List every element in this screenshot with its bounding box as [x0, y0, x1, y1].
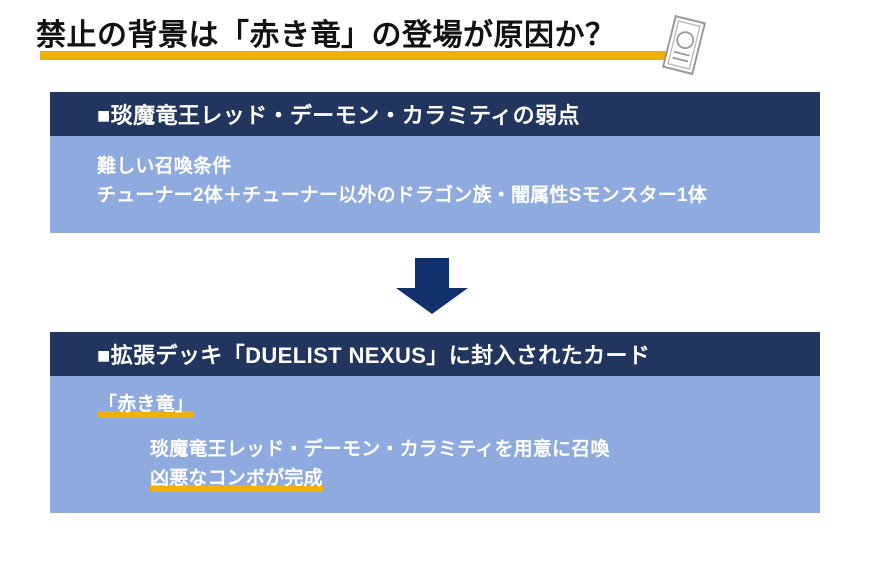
panel-pack-header-text: ■拡張デッキ「DUELIST NEXUS」に封入されたカード — [97, 338, 650, 370]
weakness-line-1: 難しい召喚条件 — [97, 152, 820, 181]
pack-line-1-highlight: 「赤き竜」 — [98, 390, 194, 419]
pack-line-3-highlight: 凶悪なコンボが完成 — [150, 464, 323, 493]
pack-line-1-wrap: 「赤き竜」 — [98, 390, 820, 419]
panel-pack-header: ■拡張デッキ「DUELIST NEXUS」に封入されたカード — [50, 332, 820, 376]
pack-line-3-text: 凶悪なコンボが完成 — [150, 468, 323, 489]
down-arrow-icon — [396, 258, 468, 314]
panel-pack: ■拡張デッキ「DUELIST NEXUS」に封入されたカード 「赤き竜」 琰魔竜… — [50, 332, 820, 513]
panel-weakness: ■琰魔竜王レッド・デーモン・カラミティの弱点 難しい召喚条件 チューナー2体＋チ… — [50, 92, 820, 233]
page-title-text: 禁止の背景は「赤き竜」の登場が原因か？ — [36, 14, 616, 58]
trading-card-icon — [660, 14, 708, 76]
panel-weakness-body: 難しい召喚条件 チューナー2体＋チューナー以外のドラゴン族・闇属性Sモンスター1… — [50, 136, 820, 233]
panel-pack-body: 「赤き竜」 琰魔竜王レッド・デーモン・カラミティを用意に召喚 凶悪なコンボが完成 — [50, 376, 820, 513]
pack-line-2: 琰魔竜王レッド・デーモン・カラミティを用意に召喚 — [150, 435, 820, 464]
pack-line-1-text: 「赤き竜」 — [98, 394, 194, 415]
weakness-line-2: チューナー2体＋チューナー以外のドラゴン族・闇属性Sモンスター1体 — [97, 181, 820, 210]
page-title: 禁止の背景は「赤き竜」の登場が原因か？ — [36, 14, 616, 64]
pack-line-3-wrap: 凶悪なコンボが完成 — [150, 464, 820, 493]
panel-weakness-header-text: ■琰魔竜王レッド・デーモン・カラミティの弱点 — [97, 98, 580, 130]
panel-weakness-header: ■琰魔竜王レッド・デーモン・カラミティの弱点 — [50, 92, 820, 136]
slide-root: 禁止の背景は「赤き竜」の登場が原因か？ ■琰魔竜王レッド・デーモン・カラミティの… — [0, 0, 870, 580]
